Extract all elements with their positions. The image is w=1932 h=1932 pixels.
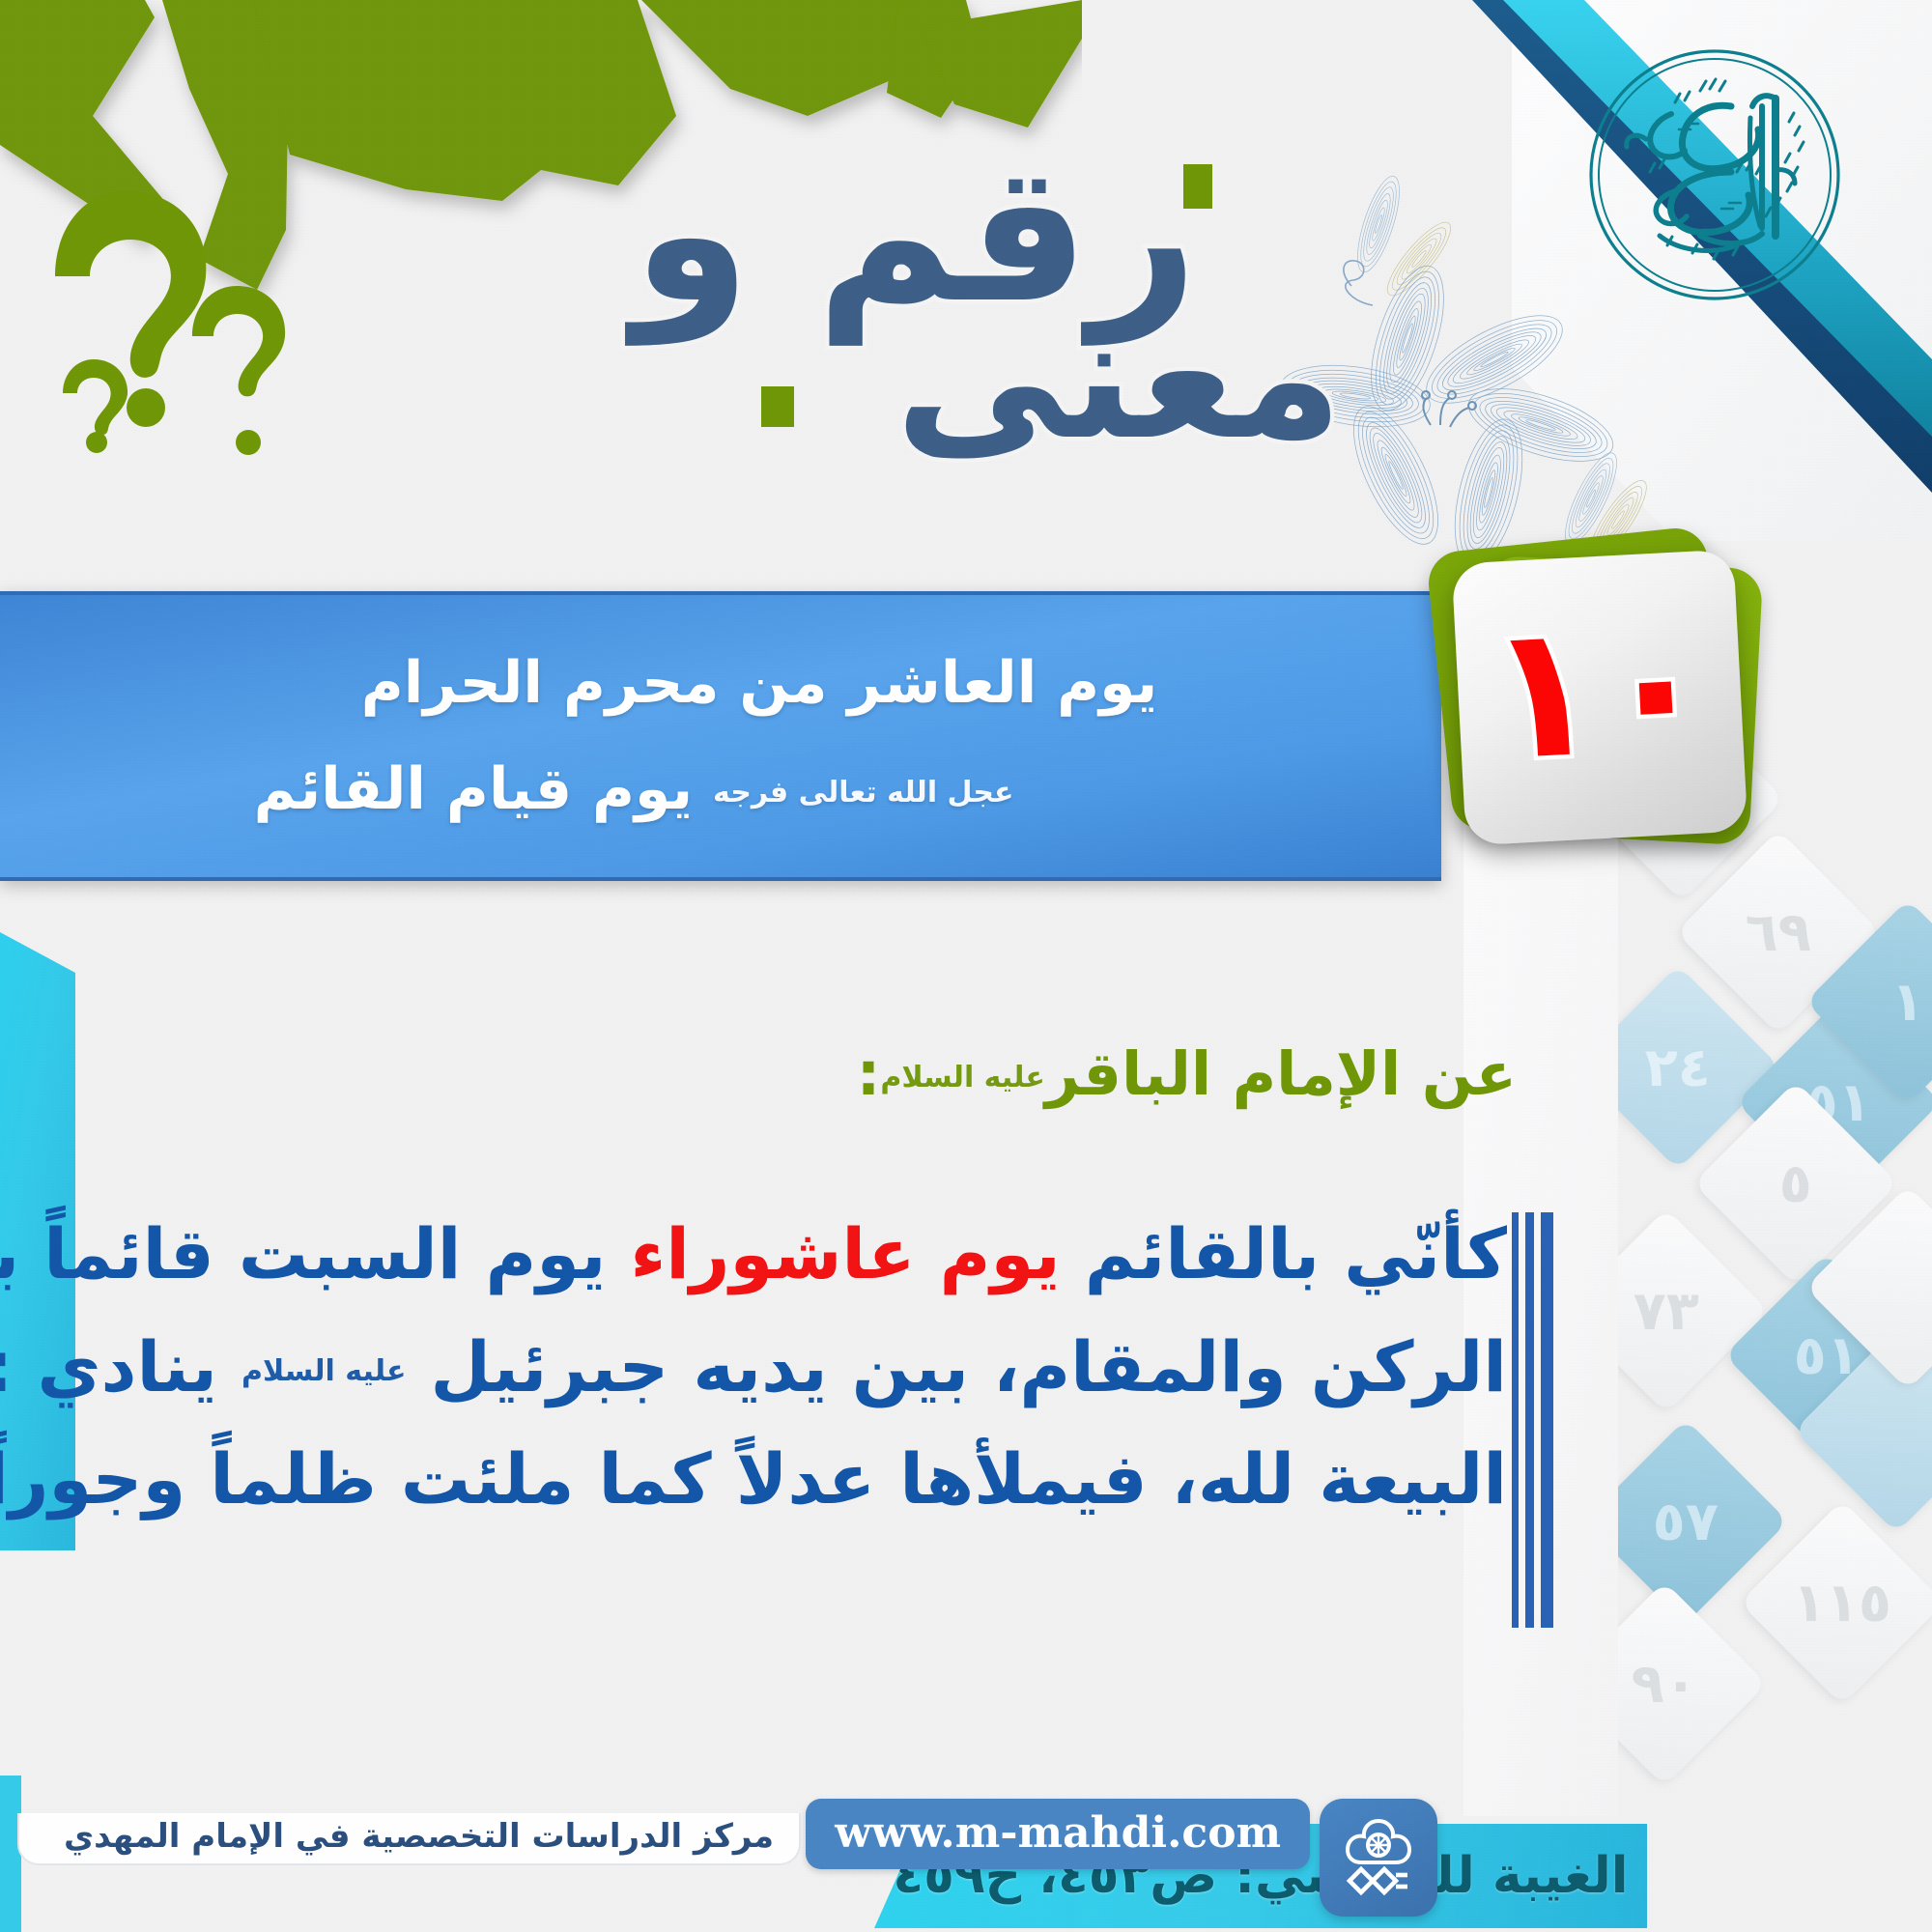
decor-tile-number: ٥٧ [1653,1491,1719,1553]
attribution-colon: : [857,1038,881,1109]
hadith-text: يوم السبت قائماً بين [0,1213,631,1294]
decor-tile-number: ١١٥ [1793,1572,1892,1634]
poster-canvas: ٣١٣٦٩٢٤٥١١٥٧٣٥١٥٧١١٥٩٠ [0,0,1932,1932]
banner-honorific: عجل الله تعالى فرجه [713,776,1013,810]
footer-text-block: www.m-mahdi.com مركز الدراسات التخصصية ف… [17,1799,1310,1869]
quote-rule-divider [1511,1212,1553,1628]
hadith-highlight: يوم عاشوراء [631,1213,1061,1294]
title-banner: يوم العاشر من محرم الحرام عجل الله تعالى… [0,591,1441,881]
attribution-text: عن الإمام الباقر [1045,1038,1517,1109]
calligraphy-seal-icon [1586,46,1843,303]
decor-tile-number: ٢٤ [1645,1037,1711,1099]
organization-logo-icon [1320,1799,1437,1917]
hadith-line: الركن والمقام، بين يديه جبرئيل عليه السل… [87,1311,1507,1424]
badge-face: ١٠ [1452,550,1748,846]
hadith-line: البيعة لله، فيملأها عدلاً كما ملئت ظلماً… [87,1423,1507,1536]
hadith-attribution: عن الإمام الباقرعليه السلام: [857,1038,1517,1109]
decor-tile-number: ٩٠ [1632,1653,1697,1716]
question-marks-icon [53,184,372,473]
decor-tile-number: ١ [1891,971,1924,1034]
number-badge: ١٠ [1420,529,1768,877]
banner-line-1: يوم العاشر من محرم الحرام [361,649,1158,717]
logo-green-accent-1 [1183,164,1212,209]
footer-branding: www.m-mahdi.com مركز الدراسات التخصصية ف… [17,1799,1437,1917]
badge-number: ١٠ [1483,592,1717,787]
decor-tile-number: ٧٣ [1634,1280,1699,1343]
hadith-honorific: عليه السلام [241,1354,406,1388]
website-url[interactable]: www.m-mahdi.com [806,1799,1310,1869]
hadith-text: ينادي : [0,1326,241,1407]
logo-wordmark: رقم و معنى [633,145,1198,459]
organization-name: مركز الدراسات التخصصية في الإمام المهدي [64,1817,774,1856]
hadith-text: الركن والمقام، بين يديه جبرئيل [406,1326,1507,1407]
logo-green-accent-2 [761,386,794,427]
decor-tile-number: ٥ [1779,1152,1812,1215]
banner-line-2: عجل الله تعالى فرجه يوم قيام القائم [254,755,1014,823]
attribution-honorific: عليه السلام [880,1061,1044,1094]
banner-line-2-text: يوم قيام القائم [254,755,694,823]
hadith-line: كأنّي بالقائم يوم عاشوراء يوم السبت قائم… [87,1198,1507,1311]
hadith-body: كأنّي بالقائم يوم عاشوراء يوم السبت قائم… [87,1198,1507,1536]
hadith-text: البيعة لله، فيملأها عدلاً كما ملئت ظلماً… [0,1438,1507,1520]
hadith-text: كأنّي بالقائم [1061,1213,1507,1294]
organization-name-plate: مركز الدراسات التخصصية في الإمام المهدي [17,1813,801,1865]
